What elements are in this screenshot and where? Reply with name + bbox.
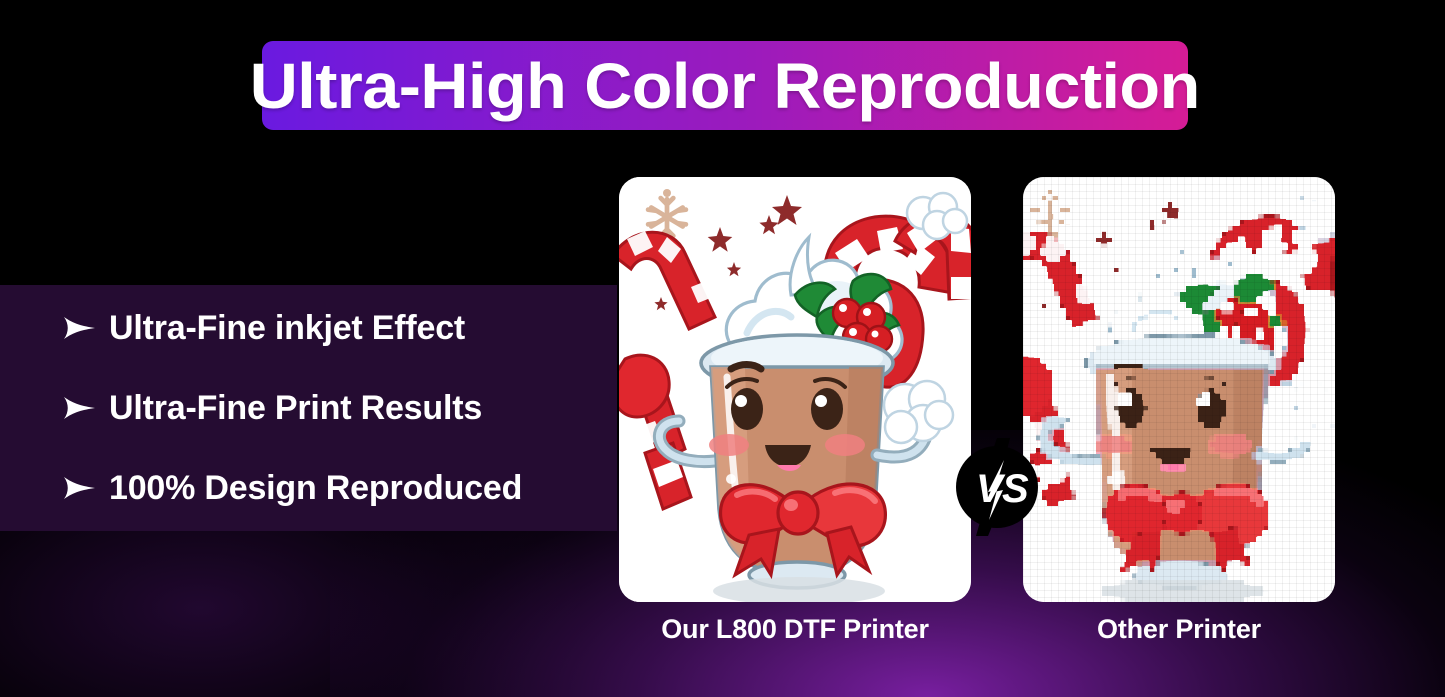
title-pill-background: Ultra-High Color Reproduction xyxy=(262,41,1188,130)
arrow-right-triangle-icon xyxy=(62,315,96,341)
artwork-sharp xyxy=(619,177,971,602)
comparison-card-our-printer xyxy=(619,177,971,602)
promo-banner: Ultra-High Color Reproduction Ultra-Fine… xyxy=(0,0,1445,697)
comparison-card-other-printer xyxy=(1023,177,1335,602)
artwork-pixelated xyxy=(1023,177,1335,602)
feature-item-3: 100% Design Reproduced xyxy=(62,448,617,528)
feature-item-label: Ultra-Fine Print Results xyxy=(109,389,482,428)
caption-other-printer: Other Printer xyxy=(1023,614,1335,645)
feature-item-label: 100% Design Reproduced xyxy=(109,469,522,508)
feature-item-1: Ultra-Fine inkjet Effect xyxy=(62,288,617,368)
vs-badge: V S xyxy=(948,438,1046,536)
feature-item-label: Ultra-Fine inkjet Effect xyxy=(109,309,465,348)
arrow-right-triangle-icon xyxy=(62,395,96,421)
caption-our-printer: Our L800 DTF Printer xyxy=(619,614,971,645)
title-banner: Ultra-High Color Reproduction xyxy=(262,41,1188,130)
arrow-right-triangle-icon xyxy=(62,475,96,501)
feature-item-2: Ultra-Fine Print Results xyxy=(62,368,617,448)
feature-list: Ultra-Fine inkjet Effect Ultra-Fine Prin… xyxy=(0,285,617,531)
svg-text:S: S xyxy=(1002,467,1029,511)
page-title: Ultra-High Color Reproduction xyxy=(250,54,1200,118)
